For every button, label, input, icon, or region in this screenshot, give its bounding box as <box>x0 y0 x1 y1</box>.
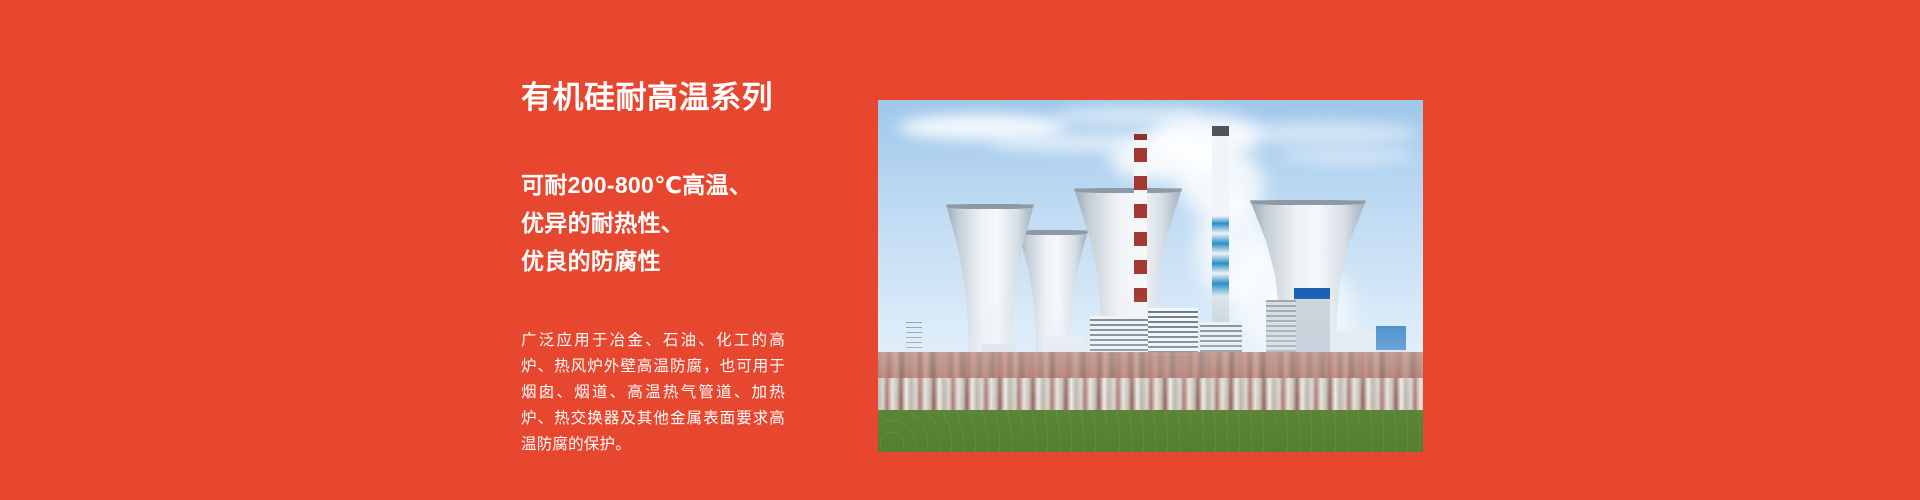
feature-item-corrosion-resistance: 优良的防腐性 <box>521 242 881 280</box>
chimney-cap <box>1212 126 1229 136</box>
description-text: 广泛应用于冶金、石油、化工的高炉、热风炉外壁高温防腐，也可用于烟囱、烟道、高温热… <box>521 328 785 458</box>
feature-item-temperature: 可耐200-800℃高温、 <box>521 166 881 204</box>
photo-canvas <box>878 100 1423 452</box>
page-title: 有机硅耐高温系列 <box>521 78 881 118</box>
power-plant-photo <box>878 100 1423 452</box>
tree-line <box>878 410 1423 452</box>
chimney-cap <box>1134 134 1147 140</box>
feature-list: 可耐200-800℃高温、 优异的耐热性、 优良的防腐性 <box>521 166 881 280</box>
feature-item-heat-resistance: 优异的耐热性、 <box>521 204 881 242</box>
residential-town <box>878 352 1423 418</box>
rooftops <box>878 352 1423 378</box>
promo-banner: 有机硅耐高温系列 可耐200-800℃高温、 优异的耐热性、 优良的防腐性 广泛… <box>0 0 1920 500</box>
description-block: 广泛应用于冶金、石油、化工的高炉、热风炉外壁高温防腐，也可用于烟囱、烟道、高温热… <box>521 328 785 458</box>
banner-text-column: 有机硅耐高温系列 可耐200-800℃高温、 优异的耐热性、 优良的防腐性 广泛… <box>521 78 881 458</box>
cloud-icon <box>1278 148 1418 164</box>
